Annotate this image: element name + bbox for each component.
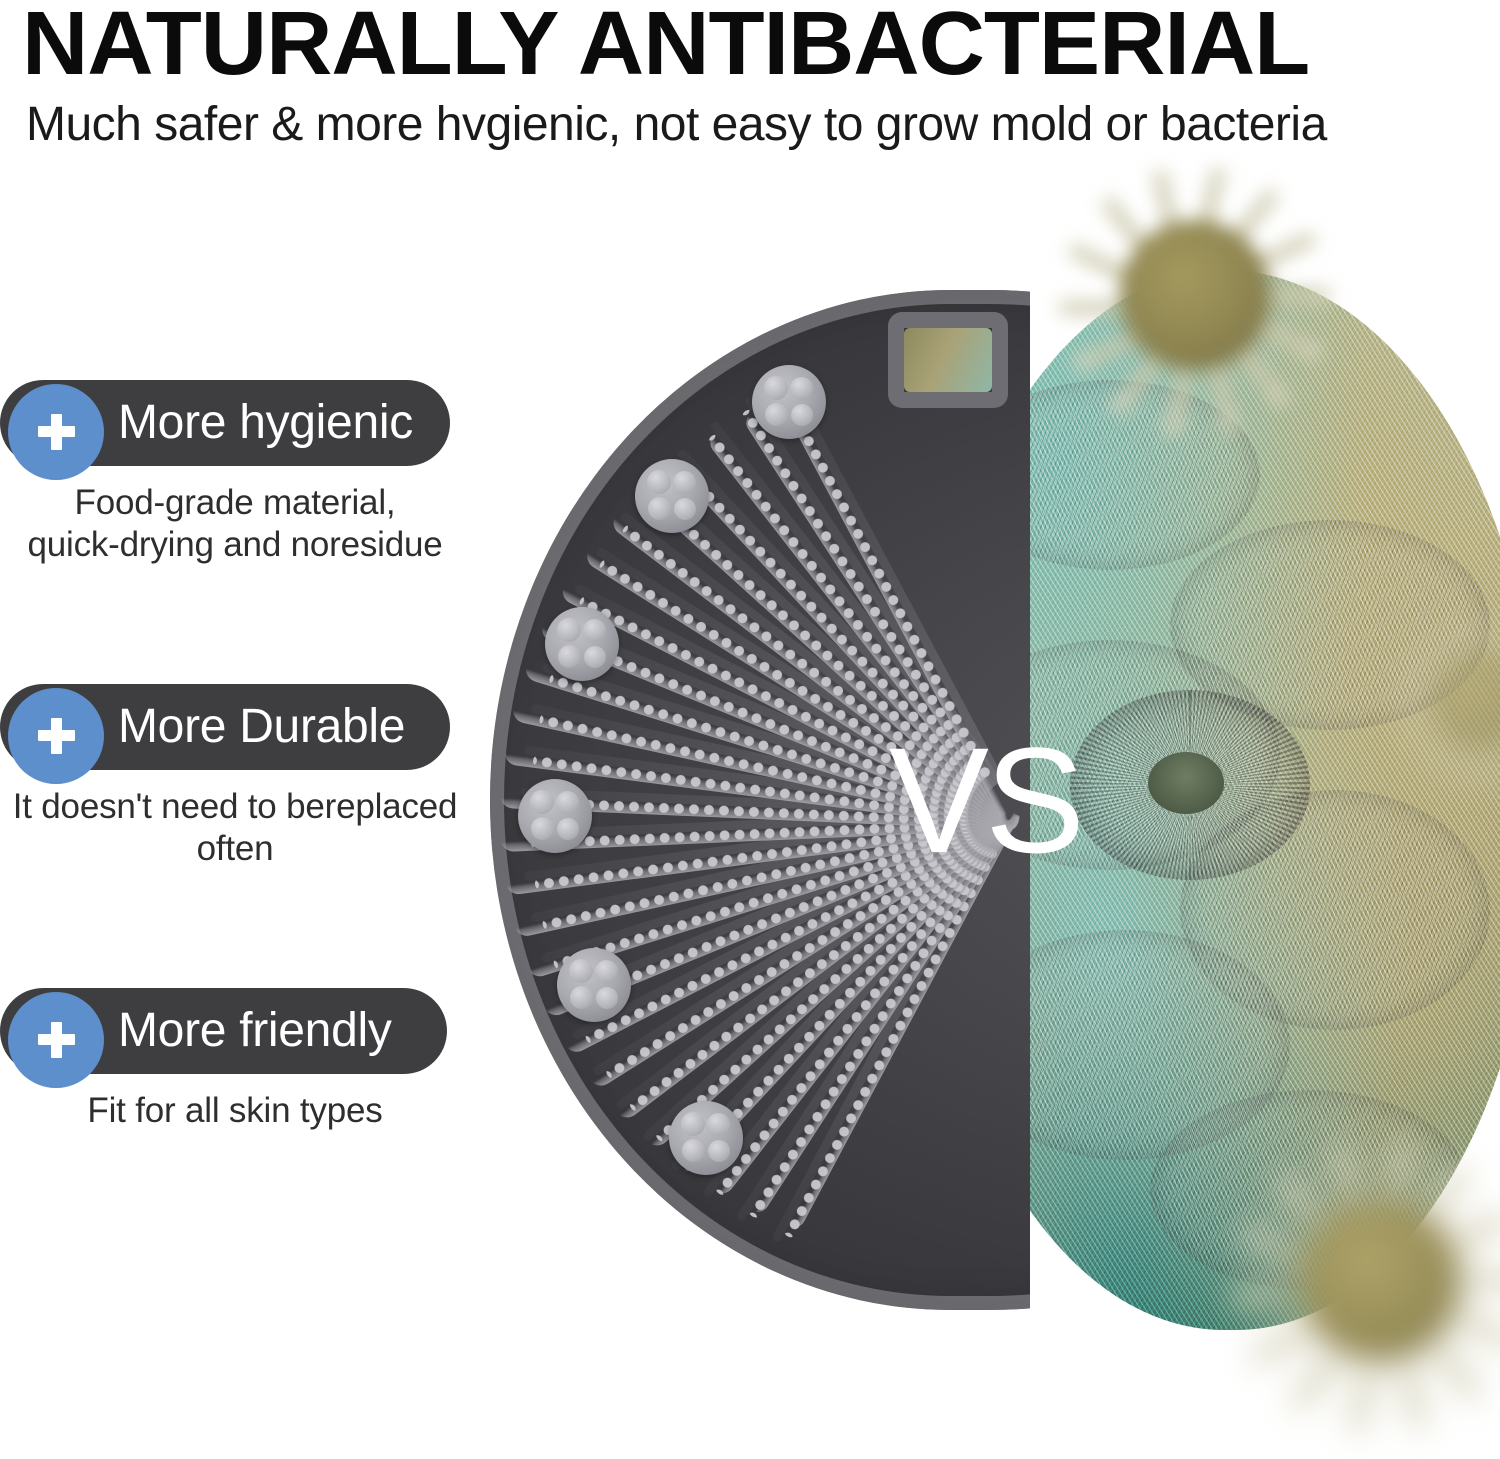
product-comparison-image: VS [470,150,1500,1450]
virus-spike [1256,1319,1322,1362]
silicone-nub [557,948,631,1022]
feature-item-more-durable: More Durable It doesn't need to bereplac… [0,684,470,870]
virus-spike [1349,1358,1379,1426]
feature-pill: More friendly [0,988,447,1074]
virus-spike [1462,744,1481,785]
hanging-hole [888,312,1008,408]
product-infographic: NATURALLY ANTIBACTERIAL Much safer & mor… [0,0,1500,1459]
feature-pill: More hygienic [0,380,450,466]
page-title: NATURALLY ANTIBACTERIAL [22,0,1500,92]
virus-spike [1210,364,1236,427]
virus-spike [1066,302,1128,315]
feature-description: Fit for all skin types [0,1090,470,1132]
feature-label: More friendly [118,1005,392,1057]
vs-label: VS [850,725,1120,875]
virus-spike [1255,319,1317,358]
virus-spike [1294,1344,1348,1406]
page-subtitle: Much safer & more hvgienic, not easy to … [26,96,1476,154]
silicone-nub [518,779,592,853]
virus-spike [1242,1288,1308,1304]
virus-particle-icon [1060,160,1330,430]
virus-spike [1237,346,1286,403]
virus-spike [1166,367,1192,430]
virus-spike [1115,354,1164,411]
feature-item-more-friendly: More friendly Fit for all skin types [0,988,470,1132]
silicone-nub [635,459,709,533]
feature-description: Food-grade material, quick-drying and no… [0,482,470,566]
plus-icon [8,992,104,1088]
plus-icon [8,384,104,480]
feature-label: More Durable [118,701,405,753]
virus-spike [1425,1334,1479,1396]
virus-spike [1396,1355,1426,1423]
feature-pill: More Durable [0,684,450,770]
feature-description: It doesn't need to bereplaced often [0,786,470,870]
silicone-nub [545,607,619,681]
silicone-nub [752,365,826,439]
virus-spike [1262,289,1324,302]
header: NATURALLY ANTIBACTERIAL Much safer & mor… [0,0,1500,170]
silicone-nub [669,1101,743,1175]
virus-spike [1079,331,1141,370]
virus-spike [1489,742,1500,783]
feature-list: More hygienic Food-grade material, quick… [0,380,470,1132]
feature-label: More hygienic [118,397,413,449]
plus-icon [8,688,104,784]
feature-item-more-hygienic: More hygienic Food-grade material, quick… [0,380,470,566]
